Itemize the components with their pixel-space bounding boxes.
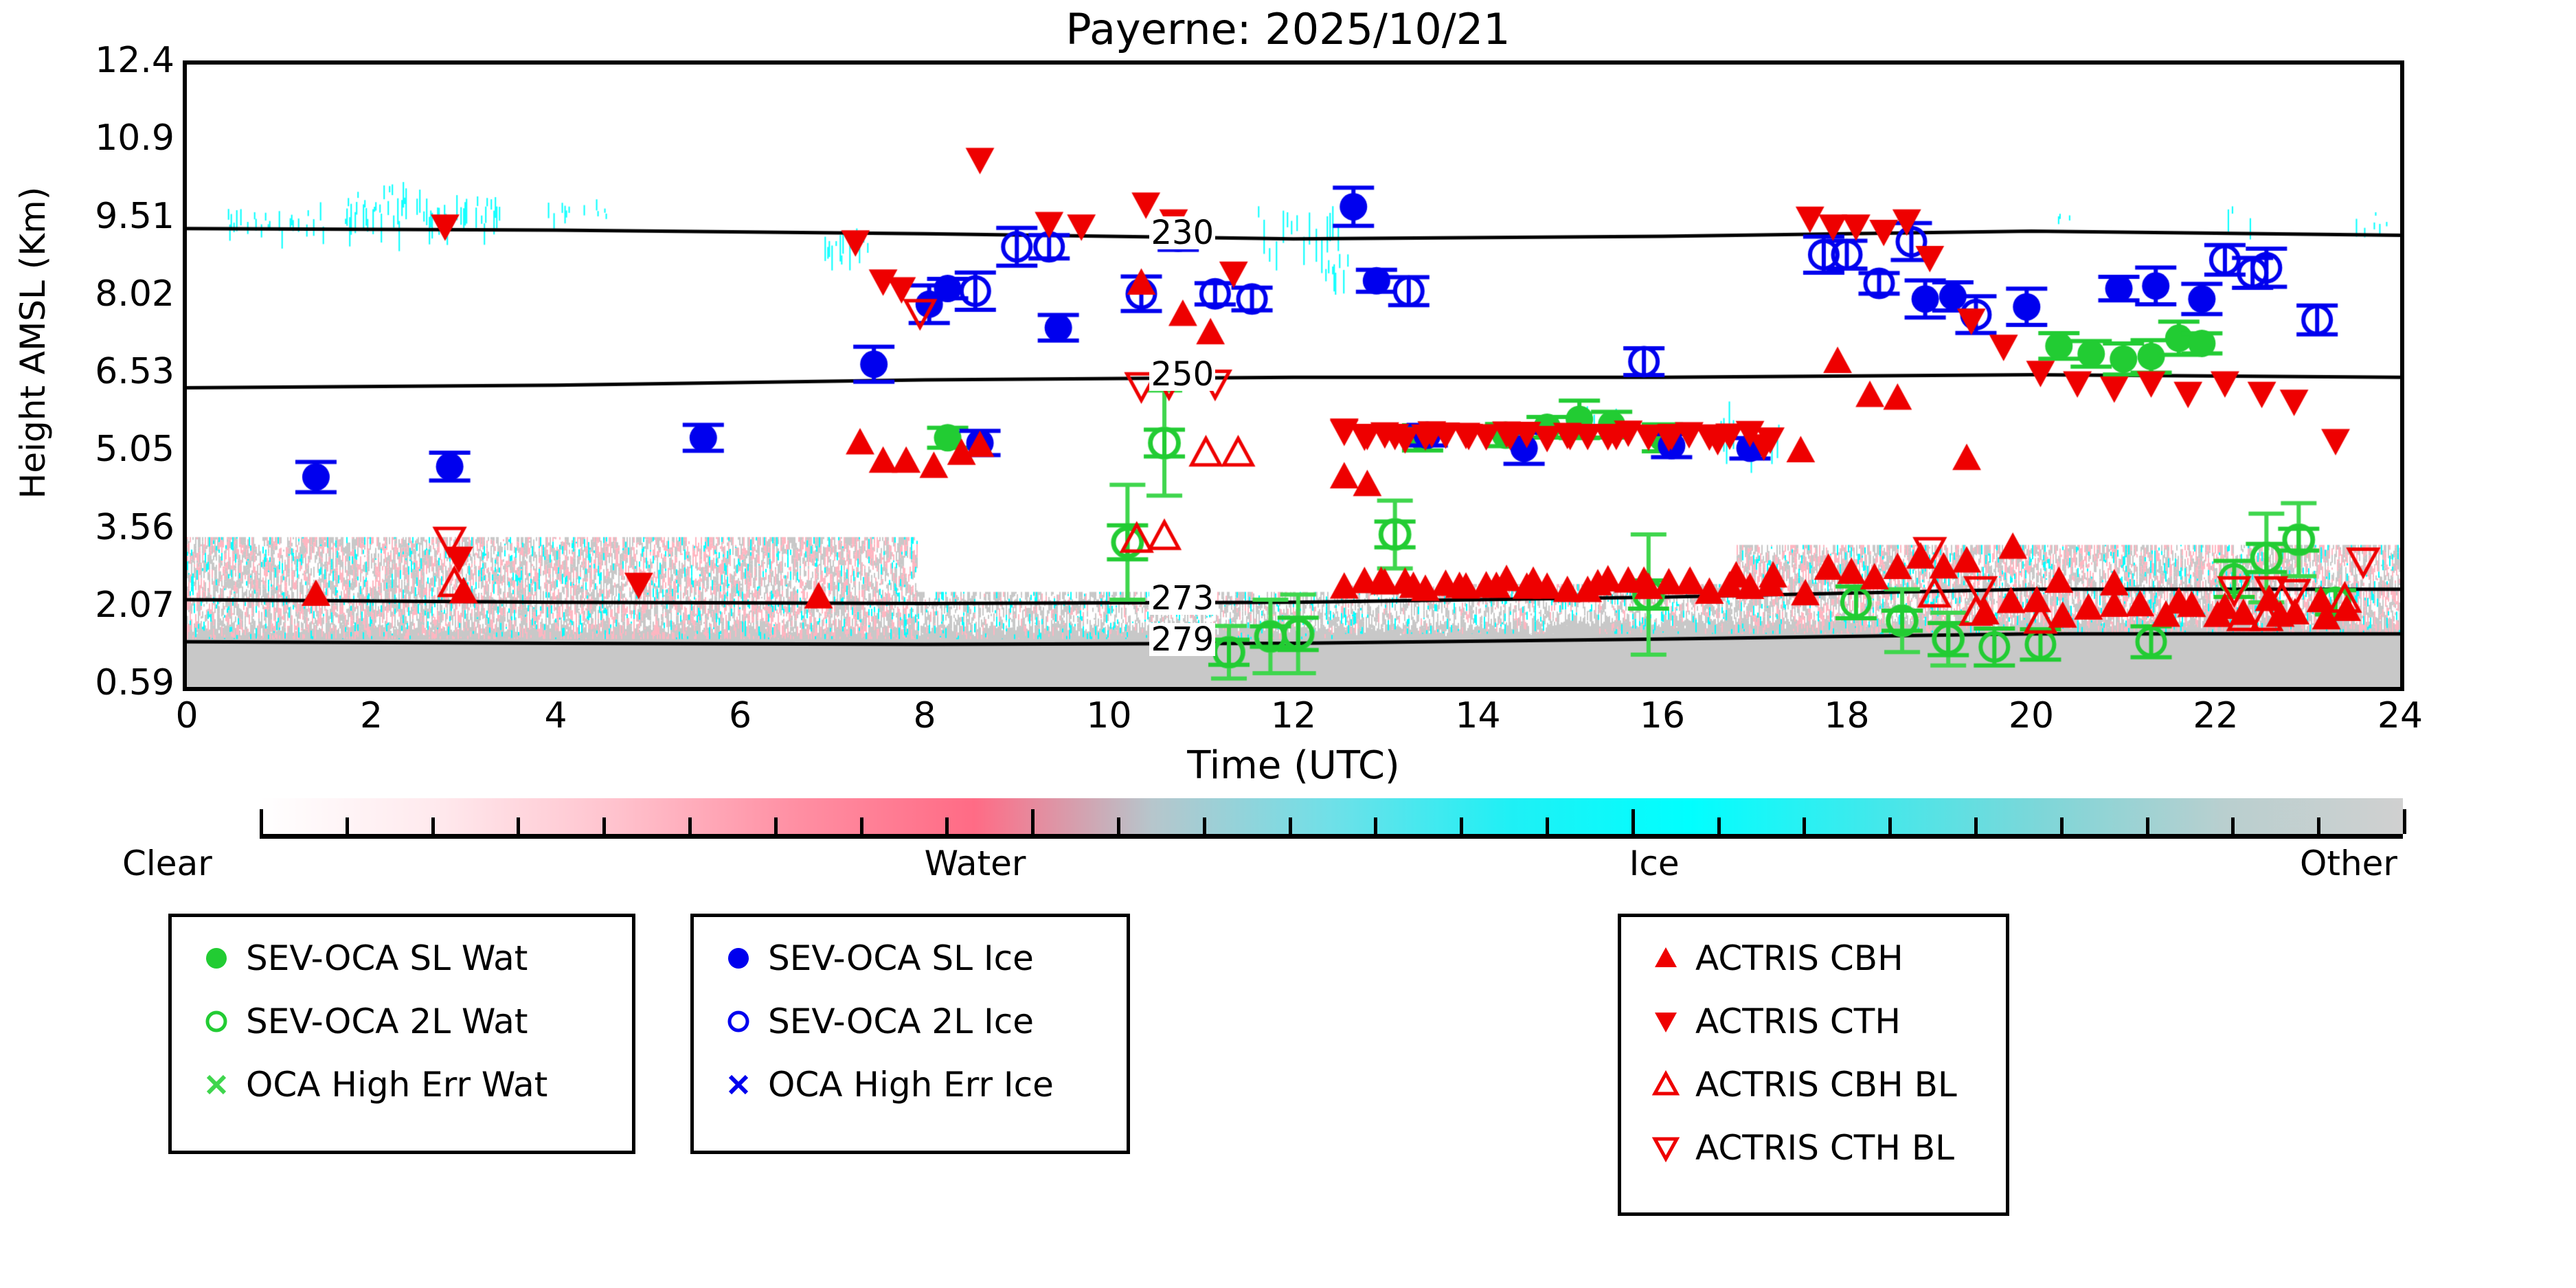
x-tick-label: 2	[317, 695, 427, 736]
open-circle-icon	[187, 1003, 246, 1040]
open-circle-icon	[709, 1003, 768, 1040]
legend-item-label: ACTRIS CTH	[1695, 1002, 1901, 1041]
legend-item[interactable]: ACTRIS CTH BL	[1636, 1116, 2006, 1179]
page-title: Payerne: 2025/10/21	[0, 4, 2576, 54]
colorbar-tick	[260, 809, 263, 834]
plot-area[interactable]	[183, 60, 2404, 691]
colorbar-label-clear: Clear	[122, 844, 212, 883]
legend-item-label: SEV-OCA SL Ice	[768, 938, 1034, 978]
x-tick-label: 4	[501, 695, 611, 736]
colorbar-tick	[2317, 817, 2320, 834]
colorbar-tick	[688, 817, 692, 834]
filled-circle-icon	[187, 940, 246, 977]
colorbar-tick	[1888, 817, 1892, 834]
x-tick-label: 6	[686, 695, 795, 736]
legend-item-label: ACTRIS CTH BL	[1695, 1128, 1954, 1168]
x-tick-label: 0	[132, 695, 242, 736]
legend-item[interactable]: ACTRIS CTH	[1636, 990, 2006, 1053]
legend-item-label: OCA High Err Wat	[246, 1065, 547, 1105]
legend-item[interactable]: SEV-OCA 2L Ice	[709, 990, 1127, 1053]
x-tick-label: 18	[1792, 695, 1902, 736]
isotherm-label-279: 279	[1149, 623, 1215, 656]
colorbar-tick	[1289, 817, 1292, 834]
legend-item[interactable]: SEV-OCA SL Ice	[709, 927, 1127, 990]
isotherm-label-250: 250	[1149, 358, 1215, 391]
legend-item-label: OCA High Err Ice	[768, 1065, 1054, 1105]
colorbar-tick	[1203, 817, 1206, 834]
legend-item-label: ACTRIS CBH BL	[1695, 1065, 1957, 1105]
colorbar-tick	[1974, 817, 1978, 834]
x-tick-label: 16	[1607, 695, 1717, 736]
legend-ice: SEV-OCA SL IceSEV-OCA 2L IceOCA High Err…	[690, 914, 1130, 1154]
colorbar-label-other: Other	[2300, 844, 2397, 883]
filled-triangle-up-icon	[1636, 940, 1695, 977]
colorbar-tick	[1546, 817, 1549, 834]
colorbar-tick	[1117, 817, 1120, 834]
colorbar-tick	[346, 817, 349, 834]
colorbar-tick	[774, 817, 778, 834]
y-tick-label: 10.9	[3, 120, 174, 156]
colorbar-tick	[2060, 817, 2064, 834]
colorbar-axis	[260, 834, 2403, 839]
colorbar-tick	[860, 817, 863, 834]
colorbar-tick	[1631, 809, 1635, 834]
open-triangle-down-icon	[1636, 1129, 1695, 1166]
x-tick-label: 22	[2161, 695, 2271, 736]
legend-water: SEV-OCA SL WatSEV-OCA 2L WatOCA High Err…	[168, 914, 635, 1154]
chart-root: Payerne: 2025/10/21 Height AMSL (Km) 12.…	[0, 0, 2576, 1288]
legend-item-label: SEV-OCA SL Wat	[246, 938, 528, 978]
colorbar-tick	[2146, 817, 2149, 834]
colorbar-tick	[2403, 809, 2406, 834]
isotherm-label-230: 230	[1149, 216, 1215, 249]
y-tick-label: 2.07	[3, 587, 174, 623]
legend-item-label: SEV-OCA 2L Ice	[768, 1002, 1034, 1041]
cross-icon	[187, 1066, 246, 1103]
isotherm-label-273: 273	[1149, 582, 1215, 615]
colorbar-tick	[1717, 817, 1721, 834]
colorbar-label-water: Water	[925, 844, 1026, 883]
colorbar-tick	[1374, 817, 1377, 834]
colorbar-label-ice: Ice	[1629, 844, 1680, 883]
cross-icon	[709, 1066, 768, 1103]
legend-item[interactable]: ACTRIS CBH	[1636, 927, 2006, 990]
y-tick-label: 6.53	[3, 354, 174, 389]
colorbar-tick	[431, 817, 435, 834]
colorbar-tick	[517, 817, 520, 834]
x-tick-label: 14	[1423, 695, 1533, 736]
colorbar-tick	[1031, 809, 1035, 834]
colorbar[interactable]	[260, 798, 2403, 834]
legend-item[interactable]: SEV-OCA 2L Wat	[187, 990, 632, 1053]
y-tick-label: 12.4	[3, 43, 174, 78]
legend-item-label: ACTRIS CBH	[1695, 938, 1903, 978]
colorbar-tick	[602, 817, 606, 834]
filled-triangle-down-icon	[1636, 1003, 1695, 1040]
x-tick-label: 10	[1054, 695, 1164, 736]
open-triangle-up-icon	[1636, 1066, 1695, 1103]
colorbar-tick	[945, 817, 949, 834]
cloud-classification-heatmap	[187, 65, 2400, 687]
colorbar-tick	[1460, 817, 1463, 834]
filled-circle-icon	[709, 940, 768, 977]
x-tick-label: 12	[1239, 695, 1348, 736]
legend-actris: ACTRIS CBHACTRIS CTHACTRIS CBH BLACTRIS …	[1618, 914, 2009, 1216]
colorbar-tick	[2231, 817, 2235, 834]
y-tick-label: 8.02	[3, 276, 174, 312]
legend-item[interactable]: SEV-OCA SL Wat	[187, 927, 632, 990]
y-tick-label: 9.51	[3, 199, 174, 234]
x-axis-label: Time (UTC)	[183, 743, 2404, 788]
x-tick-label: 24	[2345, 695, 2455, 736]
legend-item[interactable]: ACTRIS CBH BL	[1636, 1053, 2006, 1116]
y-tick-label: 5.05	[3, 431, 174, 467]
legend-item-label: SEV-OCA 2L Wat	[246, 1002, 528, 1041]
legend-item[interactable]: OCA High Err Ice	[709, 1053, 1127, 1116]
x-tick-label: 8	[870, 695, 980, 736]
x-tick-label: 20	[1976, 695, 2086, 736]
legend-item[interactable]: OCA High Err Wat	[187, 1053, 632, 1116]
plot-canvas-layer	[187, 65, 2400, 687]
colorbar-gradient	[260, 798, 2403, 834]
colorbar-tick	[1803, 817, 1806, 834]
y-tick-label: 3.56	[3, 510, 174, 545]
